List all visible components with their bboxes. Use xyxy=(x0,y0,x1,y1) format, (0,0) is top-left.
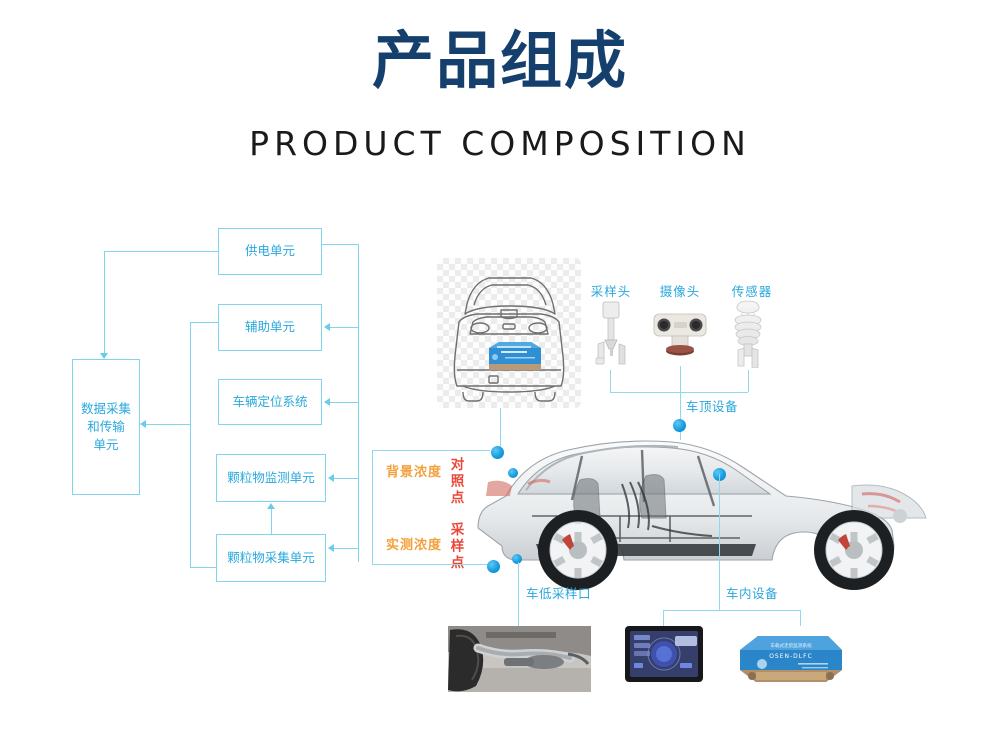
flow-box-power-unit-label: 供电单元 xyxy=(245,242,295,260)
flow-line-collect-left xyxy=(190,567,216,568)
label-reference-point: 对照点 xyxy=(448,457,462,507)
connector-sampling-head-down xyxy=(610,370,611,392)
flow-box-aux-unit: 辅助单元 xyxy=(218,304,322,351)
page-title: 产品组成 xyxy=(0,30,1000,92)
photo-under-vehicle xyxy=(448,626,591,692)
product-composition-infographic: 产品组成 PRODUCT COMPOSITION 数据采集 和传输 单元 供电单… xyxy=(0,0,1000,740)
equipment-image-sensor xyxy=(724,300,772,368)
tablet-svg xyxy=(625,626,703,682)
photo-tablet-display xyxy=(625,626,703,682)
flow-box-monitor-unit-label: 颗粒物监测单元 xyxy=(227,469,315,487)
callout-roof-equipment: 车顶设备 xyxy=(686,396,738,415)
car-xray-svg xyxy=(470,420,970,600)
device-svg: 车载式走航监测系统 OSEN-DLFC xyxy=(736,628,846,690)
flow-line-bus-to-monitor xyxy=(334,478,358,479)
flow-box-collect-unit-label: 颗粒物采集单元 xyxy=(227,549,315,567)
flow-box-power-unit: 供电单元 xyxy=(218,228,322,275)
sensor-svg xyxy=(724,300,772,368)
camera-svg xyxy=(650,306,710,364)
flow-line-power-down xyxy=(104,251,105,355)
equipment-image-camera xyxy=(650,306,710,364)
trunk-illustration-svg xyxy=(437,258,581,408)
car-xray-illustration xyxy=(470,420,970,600)
flow-line-bus-to-collect xyxy=(334,548,358,549)
flow-line-bus-to-locate xyxy=(330,402,358,403)
flow-line-riser-to-data xyxy=(146,424,190,425)
equipment-label-camera: 摄像头 xyxy=(654,281,706,300)
flow-arrow-into-locate xyxy=(324,398,330,406)
flow-box-aux-unit-label: 辅助单元 xyxy=(245,318,295,336)
connector-under-vehicle-v xyxy=(518,562,519,626)
flow-line-power-to-left xyxy=(104,251,218,252)
dot-lower-body xyxy=(512,554,522,564)
connector-camera-down xyxy=(680,366,681,392)
flow-box-locate-unit: 车辆定位系统 xyxy=(218,379,322,425)
flow-arrow-into-collect xyxy=(328,544,334,552)
connector-tablet-drop xyxy=(663,610,664,626)
dot-reference-point xyxy=(491,446,504,459)
connector-in-vehicle-bracket xyxy=(663,610,800,611)
dot-upper-body xyxy=(508,468,518,478)
page-subtitle: PRODUCT COMPOSITION xyxy=(0,124,1000,163)
sampling-head-svg xyxy=(588,300,634,368)
device-model-text: OSEN-DLFC xyxy=(769,653,813,660)
connector-in-vehicle-v xyxy=(719,474,720,610)
flow-box-data-unit-label: 数据采集 和传输 单元 xyxy=(81,400,131,454)
photo-monitoring-device: 车载式走航监测系统 OSEN-DLFC xyxy=(736,628,846,690)
flow-box-locate-unit-label: 车辆定位系统 xyxy=(232,393,307,411)
flow-line-riser-to-aux xyxy=(190,322,218,323)
bracket-left-v xyxy=(372,450,373,564)
connector-device-drop xyxy=(800,610,801,626)
callout-under-vehicle-sampling-port: 车低采样口 xyxy=(526,583,591,602)
callout-in-vehicle-equipment: 车内设备 xyxy=(726,583,778,602)
flow-arrow-collect-to-monitor xyxy=(267,503,275,509)
flow-box-data-unit: 数据采集 和传输 单元 xyxy=(72,359,140,495)
flow-box-collect-unit: 颗粒物采集单元 xyxy=(216,534,326,582)
label-measured-concentration: 实测浓度 xyxy=(386,534,442,553)
flow-line-left-riser xyxy=(190,322,191,567)
equipment-label-sampling-head: 采样头 xyxy=(585,281,637,300)
connector-roof-bracket xyxy=(610,392,748,393)
equipment-label-sensor: 传感器 xyxy=(726,281,778,300)
trunk-device xyxy=(489,342,541,370)
trunk-illustration xyxy=(437,258,581,408)
flow-line-collect-to-monitor xyxy=(271,508,272,534)
flow-line-bus-to-aux xyxy=(330,327,358,328)
flow-arrow-into-aux xyxy=(324,323,330,331)
equipment-image-sampling-head xyxy=(588,300,634,368)
flow-line-right-bus xyxy=(358,244,359,562)
flow-arrow-into-monitor xyxy=(328,474,334,482)
dot-sampling-point xyxy=(487,560,500,573)
label-background-concentration: 背景浓度 xyxy=(386,461,442,480)
connector-sensor-down xyxy=(748,370,749,392)
device-brand-line: 车载式走航监测系统 xyxy=(770,642,812,649)
dot-roof-top xyxy=(673,419,686,432)
flow-arrow-into-data-unit-side xyxy=(140,420,146,428)
flow-arrow-into-data-unit xyxy=(100,353,108,359)
under-vehicle-photo-svg xyxy=(448,626,591,692)
flow-line-power-right xyxy=(322,244,358,245)
flow-box-monitor-unit: 颗粒物监测单元 xyxy=(216,454,326,502)
